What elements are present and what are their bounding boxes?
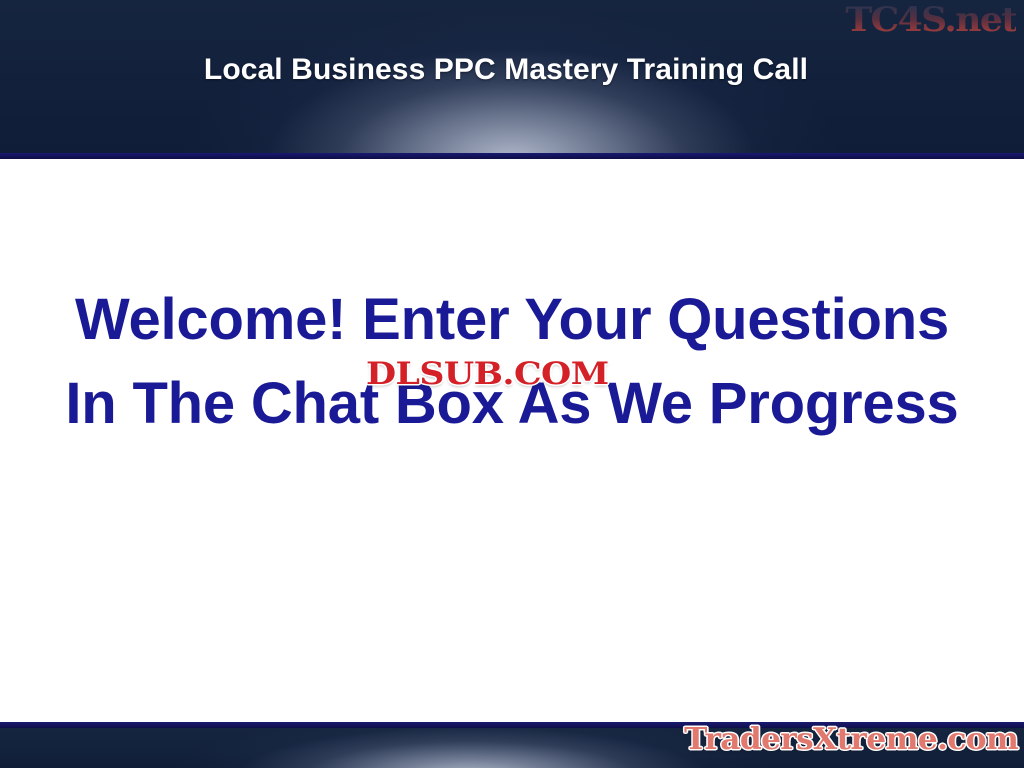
slide-header-title-wrap: Local Business PPC Mastery Training Call (0, 50, 1024, 90)
tc4s-watermark: TC4S.net (845, 0, 1016, 42)
slide-header-title: Local Business PPC Mastery Training Call (204, 50, 808, 90)
slide-body: Welcome! Enter Your Questions In The Cha… (62, 200, 962, 700)
tradersxtreme-watermark: TradersXtreme.com (684, 719, 1018, 761)
presentation-slide: Local Business PPC Mastery Training Call… (0, 0, 1024, 768)
header-divider-rule (0, 153, 1024, 159)
dlsub-watermark: DLSUB.COM (366, 357, 609, 391)
